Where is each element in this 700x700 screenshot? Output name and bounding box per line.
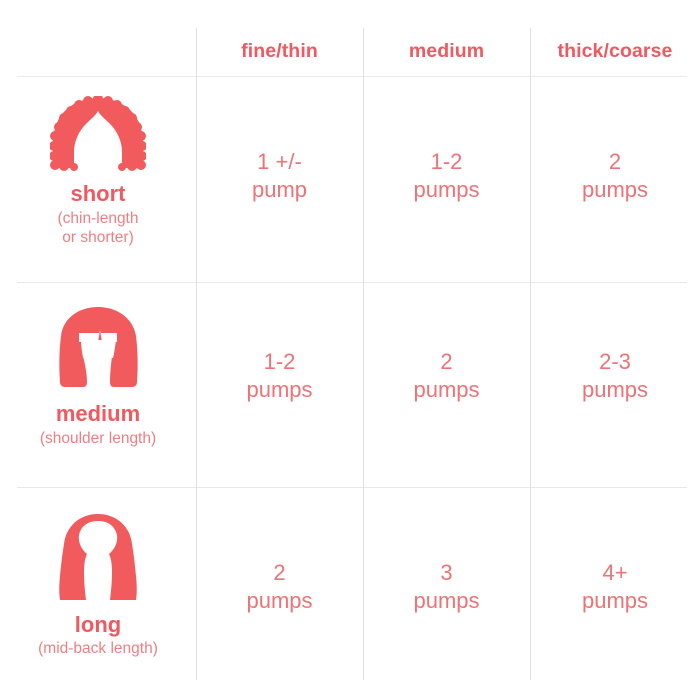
cell-short-medium: 1-2 pumps [363, 96, 530, 204]
row-label-long: long (mid-back length) [0, 512, 196, 658]
cell-long-fine-thin: 2 pumps [196, 512, 363, 615]
column-header-medium: medium [363, 42, 530, 62]
table-row: medium (shoulder length) 1-2 pumps 2 pum… [0, 306, 700, 448]
row-label-medium: medium (shoulder length) [0, 306, 196, 448]
table-header-row: fine/thin medium thick/coarse [0, 28, 700, 76]
cell-long-medium: 3 pumps [363, 512, 530, 615]
cell-long-thick-coarse: 4+ pumps [530, 512, 700, 615]
row-label-short: short (chin-length or shorter) [0, 96, 196, 248]
table-row: long (mid-back length) 2 pumps 3 pumps 4… [0, 512, 700, 658]
row-title-medium: medium [56, 402, 140, 425]
long-hair-icon [55, 512, 141, 602]
row-subtitle-long: (mid-back length) [38, 639, 158, 658]
column-header-fine-thin: fine/thin [196, 42, 363, 62]
hair-dosage-table: fine/thin medium thick/coarse [0, 0, 700, 700]
row-subtitle-medium: (shoulder length) [40, 429, 156, 448]
grid-line-row2-bottom [17, 487, 687, 488]
cell-medium-fine-thin: 1-2 pumps [196, 306, 363, 404]
grid-line-header-bottom [17, 76, 687, 77]
cell-medium-thick-coarse: 2-3 pumps [530, 306, 700, 404]
short-hair-icon [50, 96, 146, 174]
table-row: short (chin-length or shorter) 1 +/- pum… [0, 96, 700, 248]
medium-hair-icon [55, 306, 141, 388]
cell-short-thick-coarse: 2 pumps [530, 96, 700, 204]
cell-short-fine-thin: 1 +/- pump [196, 96, 363, 204]
row-title-long: long [75, 613, 121, 636]
row-subtitle-short: (chin-length or shorter) [58, 209, 139, 248]
cell-medium-medium: 2 pumps [363, 306, 530, 404]
column-header-thick-coarse: thick/coarse [530, 42, 700, 62]
row-title-short: short [71, 182, 126, 205]
grid-line-row1-bottom [17, 282, 687, 283]
